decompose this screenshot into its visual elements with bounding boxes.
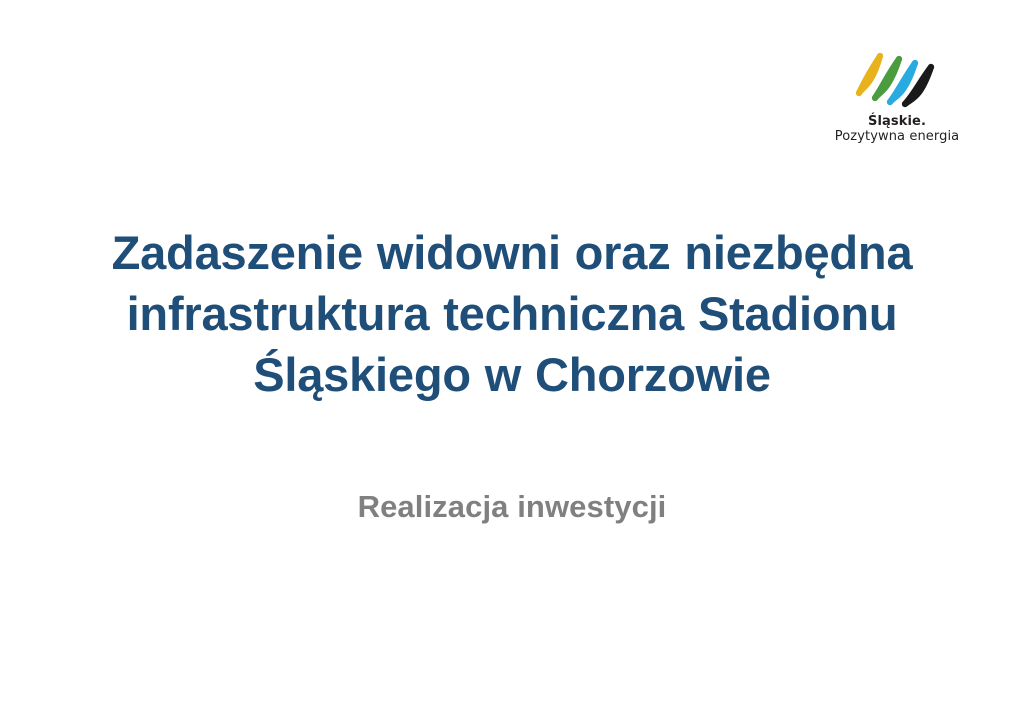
- title-line-3: Śląskiego w Chorzowie: [62, 344, 962, 405]
- page-title: Zadaszenie widowni oraz niezbędna infras…: [62, 222, 962, 405]
- title-line-1: Zadaszenie widowni oraz niezbędna: [62, 222, 962, 283]
- logo-wordmark-line2: Pozytywna energia: [835, 129, 960, 144]
- title-line-2: infrastruktura techniczna Stadionu: [62, 283, 962, 344]
- page-subtitle: Realizacja inwestycji: [62, 487, 962, 527]
- logo-wordmark-line1: Śląskie.: [835, 114, 960, 129]
- title-placeholder: Zadaszenie widowni oraz niezbędna infras…: [62, 222, 962, 405]
- subtitle-placeholder: Realizacja inwestycji: [62, 487, 962, 527]
- title-slide: Śląskie. Pozytywna energia Zadaszenie wi…: [0, 0, 1024, 724]
- slaskie-logo: Śląskie. Pozytywna energia: [812, 46, 982, 145]
- four-wave-mark-icon: [849, 46, 945, 108]
- logo-wordmark: Śląskie. Pozytywna energia: [835, 114, 960, 145]
